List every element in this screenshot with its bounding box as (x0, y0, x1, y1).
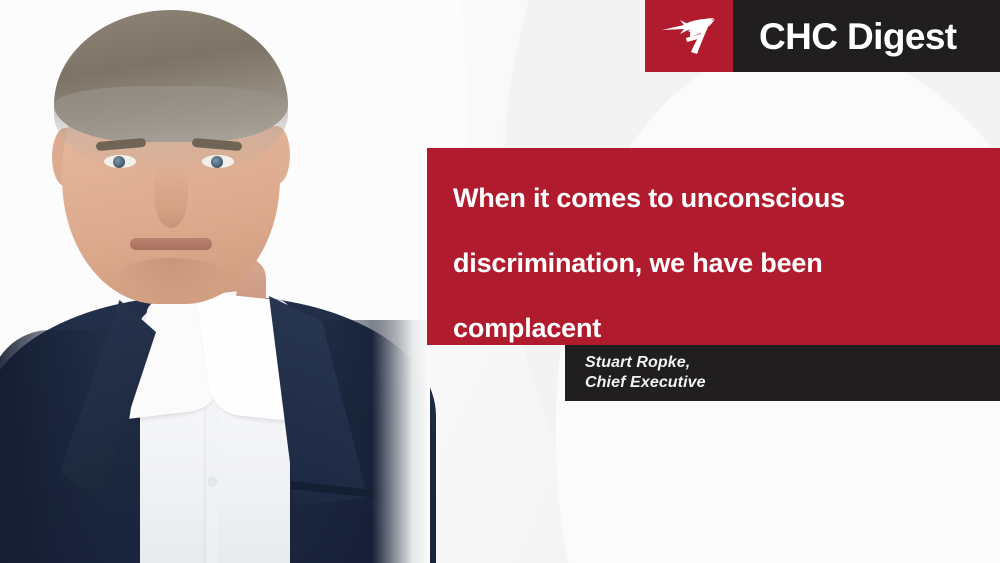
quote-line-2: discrimination, we have been (453, 231, 974, 296)
eye-right (202, 155, 234, 168)
brand-header-bar: CHC Digest (645, 0, 1000, 72)
nose (154, 162, 188, 228)
chin-shading (112, 258, 230, 300)
attribution-panel: Stuart Ropke, Chief Executive (565, 345, 1000, 401)
eye-left (104, 155, 136, 168)
portrait-edge-fade (372, 0, 430, 563)
mouth (130, 238, 212, 250)
portrait-photo (0, 0, 420, 563)
iris-right (211, 156, 223, 168)
iris-left (113, 156, 125, 168)
brand-title-container: CHC Digest (733, 0, 1000, 72)
chc-dragon-logo-icon (645, 0, 733, 72)
quote-line-1: When it comes to unconscious (453, 166, 974, 231)
brand-title: CHC Digest (759, 18, 957, 55)
attribution-name: Stuart Ropke, (585, 353, 1000, 373)
shirt-button-lower (208, 477, 217, 486)
quote-panel: When it comes to unconscious discriminat… (427, 148, 1000, 345)
chc-digest-quote-card: CHC Digest When it comes to unconscious … (0, 0, 1000, 563)
attribution-role: Chief Executive (585, 373, 1000, 393)
